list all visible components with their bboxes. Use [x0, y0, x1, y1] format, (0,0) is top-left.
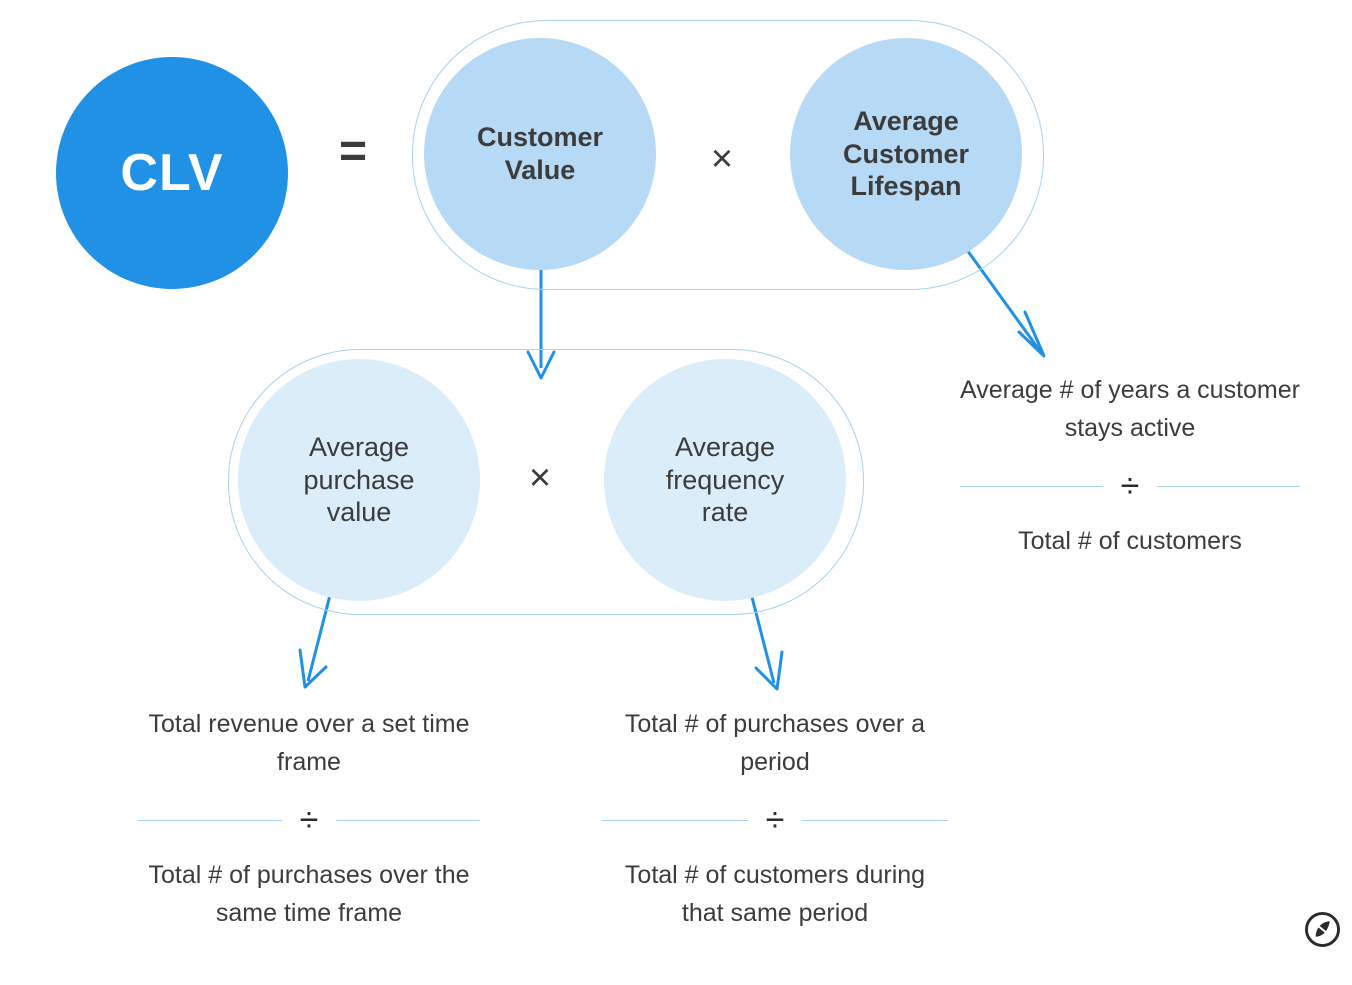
divide-icon: ÷	[282, 803, 337, 837]
fraction-lifespan-numerator: Average # of years a customer stays acti…	[960, 372, 1300, 447]
rule-segment-right	[802, 820, 948, 821]
term-average-customer-lifespan-label: Average Customer Lifespan	[837, 105, 975, 204]
fraction-purchase-value-rule: ÷	[138, 801, 480, 839]
rule-segment-left	[602, 820, 748, 821]
fraction-purchase-value-denominator: Total # of purchases over the same time …	[138, 857, 480, 932]
times-operator-bottom: ×	[514, 459, 566, 497]
term-average-frequency-rate[interactable]: Average frequency rate	[604, 359, 846, 601]
diagram-canvas: CLV = × × Customer Value Average Custome…	[0, 0, 1352, 985]
divide-icon: ÷	[748, 803, 803, 837]
divide-icon: ÷	[1103, 469, 1158, 503]
term-average-purchase-value-label: Average purchase value	[297, 431, 420, 530]
fraction-frequency-rate-numerator: Total # of purchases over a period	[602, 706, 948, 781]
term-average-customer-lifespan[interactable]: Average Customer Lifespan	[790, 38, 1022, 270]
fraction-purchase-value-definition: Total revenue over a set time frame ÷ To…	[138, 706, 480, 932]
equals-operator: =	[327, 128, 379, 176]
term-customer-value[interactable]: Customer Value	[424, 38, 656, 270]
fraction-purchase-value-numerator: Total revenue over a set time frame	[138, 706, 480, 781]
rule-segment-left	[138, 820, 282, 821]
rule-segment-right	[1157, 486, 1300, 487]
fraction-frequency-rate-definition: Total # of purchases over a period ÷ Tot…	[602, 706, 948, 932]
fraction-frequency-rate-rule: ÷	[602, 801, 948, 839]
clv-root-circle[interactable]: CLV	[56, 57, 288, 289]
term-average-frequency-rate-label: Average frequency rate	[660, 431, 791, 530]
term-customer-value-label: Customer Value	[471, 121, 609, 187]
rule-segment-right	[336, 820, 480, 821]
fraction-lifespan-definition: Average # of years a customer stays acti…	[960, 372, 1300, 561]
brand-logo-icon	[1305, 912, 1340, 947]
clv-root-label: CLV	[120, 147, 223, 199]
fraction-lifespan-denominator: Total # of customers	[960, 523, 1300, 561]
fraction-lifespan-rule: ÷	[960, 467, 1300, 505]
fraction-frequency-rate-denominator: Total # of customers during that same pe…	[602, 857, 948, 932]
times-operator-top: ×	[696, 140, 748, 178]
term-average-purchase-value[interactable]: Average purchase value	[238, 359, 480, 601]
rule-segment-left	[960, 486, 1103, 487]
